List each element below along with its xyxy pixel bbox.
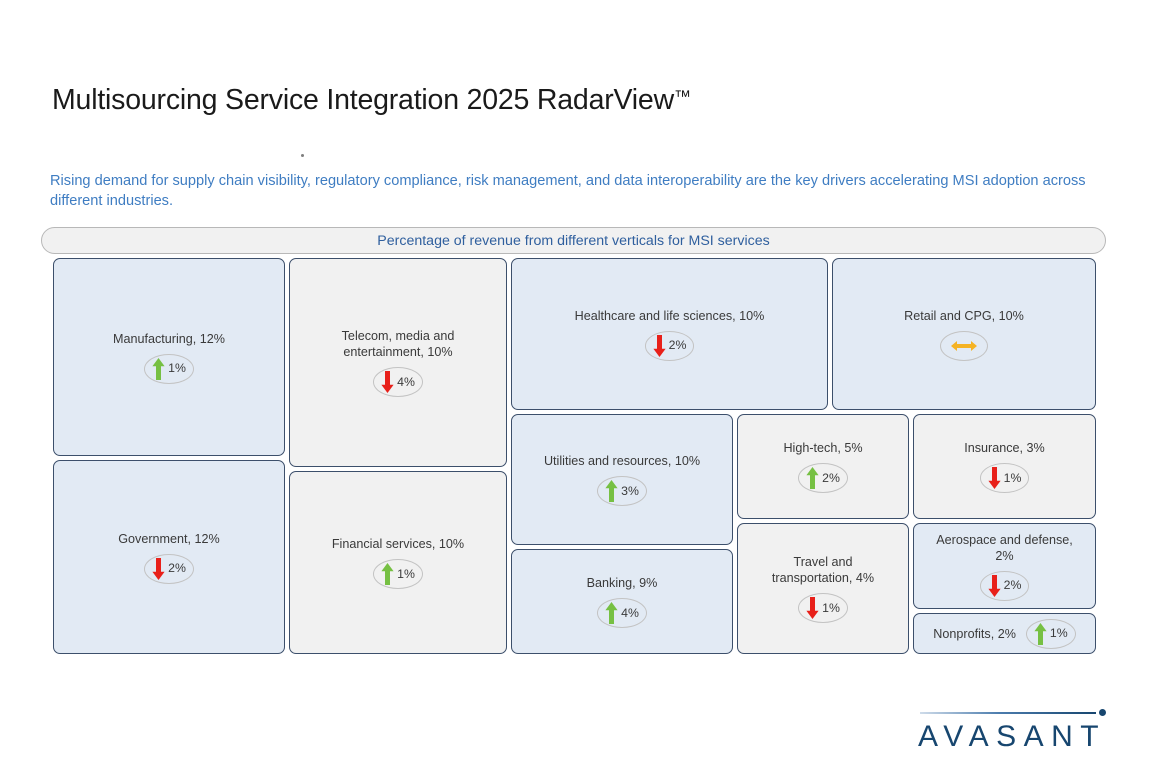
arrow-down-icon — [806, 597, 819, 619]
treemap-tile-label: Manufacturing, 12% — [113, 331, 225, 347]
arrow-down-icon — [988, 467, 1001, 489]
treemap-tile[interactable]: Banking, 9%4% — [511, 549, 733, 654]
delta-value: 2% — [1004, 579, 1022, 591]
delta-value: 1% — [168, 362, 186, 374]
treemap-tile-label: Banking, 9% — [587, 575, 658, 591]
delta-value: 1% — [397, 568, 415, 580]
logo-wordmark: AVASANT — [918, 720, 1106, 754]
delta-value: 1% — [822, 602, 840, 614]
arrow-up-icon — [152, 358, 165, 380]
subtitle: Rising demand for supply chain visibilit… — [50, 171, 1108, 211]
treemap-tile[interactable]: Telecom, media and entertainment, 10%4% — [289, 258, 507, 467]
delta-value: 1% — [1004, 472, 1022, 484]
arrow-up-icon — [605, 602, 618, 624]
arrow-down-icon — [152, 558, 165, 580]
treemap-tile[interactable]: High-tech, 5%2% — [737, 414, 909, 519]
page-title-text: Multisourcing Service Integration 2025 R… — [52, 84, 674, 116]
arrow-up-icon — [806, 467, 819, 489]
treemap-tile[interactable]: Utilities and resources, 10%3% — [511, 414, 733, 545]
delta-value: 1% — [1050, 627, 1068, 639]
arrow-up-icon — [605, 480, 618, 502]
treemap-tile-label: Telecom, media and entertainment, 10% — [342, 328, 455, 360]
page-title: Multisourcing Service Integration 2025 R… — [52, 84, 691, 117]
delta-value: 3% — [621, 485, 639, 497]
arrow-down-icon — [381, 371, 394, 393]
chart-header-label: Percentage of revenue from different ver… — [377, 233, 769, 249]
delta-badge: 2% — [798, 463, 848, 493]
arrow-up-icon — [381, 563, 394, 585]
arrow-up-icon — [1034, 623, 1047, 645]
delta-value: 2% — [822, 472, 840, 484]
delta-badge: 1% — [798, 593, 848, 623]
chart-header-bar: Percentage of revenue from different ver… — [41, 227, 1106, 254]
treemap-tile[interactable]: Healthcare and life sciences, 10%2% — [511, 258, 828, 410]
treemap-tile[interactable]: Aerospace and defense, 2%2% — [913, 523, 1096, 609]
treemap-tile[interactable]: Travel and transportation, 4%1% — [737, 523, 909, 654]
treemap-tile-label: Retail and CPG, 10% — [904, 308, 1024, 324]
delta-value: 2% — [669, 339, 687, 351]
avasant-logo: AVASANT — [918, 706, 1114, 758]
delta-badge — [940, 331, 988, 361]
delta-badge: 4% — [597, 598, 647, 628]
delta-badge: 1% — [144, 354, 194, 384]
delta-value: 2% — [168, 562, 186, 574]
stray-dot-artifact — [301, 154, 304, 157]
treemap-tile-label: Utilities and resources, 10% — [544, 453, 700, 469]
delta-value: 4% — [621, 607, 639, 619]
delta-badge: 3% — [597, 476, 647, 506]
delta-badge: 2% — [144, 554, 194, 584]
treemap-tile-label: High-tech, 5% — [783, 440, 862, 456]
arrow-down-icon — [988, 575, 1001, 597]
arrow-down-icon — [653, 335, 666, 357]
delta-badge: 4% — [373, 367, 423, 397]
delta-value: 4% — [397, 376, 415, 388]
treemap-chart: Manufacturing, 12%1%Government, 12%2%Tel… — [53, 258, 1096, 654]
delta-badge: 1% — [1026, 619, 1076, 649]
treemap-tile-label: Aerospace and defense, 2% — [936, 532, 1073, 564]
delta-badge: 2% — [645, 331, 695, 361]
treemap-tile[interactable]: Nonprofits, 2%1% — [913, 613, 1096, 654]
treemap-tile[interactable]: Government, 12%2% — [53, 460, 285, 654]
treemap-tile-label: Government, 12% — [118, 531, 220, 547]
logo-line — [920, 712, 1096, 714]
logo-dot — [1099, 709, 1106, 716]
delta-badge: 2% — [980, 571, 1030, 601]
trademark-symbol: ™ — [674, 87, 691, 106]
treemap-tile[interactable]: Financial services, 10%1% — [289, 471, 507, 654]
treemap-tile-label: Insurance, 3% — [964, 440, 1045, 456]
delta-badge: 1% — [373, 559, 423, 589]
treemap-tile[interactable]: Manufacturing, 12%1% — [53, 258, 285, 456]
delta-badge: 1% — [980, 463, 1030, 493]
treemap-tile-label: Nonprofits, 2% — [933, 626, 1016, 642]
treemap-tile-label: Healthcare and life sciences, 10% — [575, 308, 765, 324]
treemap-tile[interactable]: Insurance, 3%1% — [913, 414, 1096, 519]
treemap-tile-label: Travel and transportation, 4% — [772, 554, 874, 586]
arrow-flat-icon — [951, 340, 977, 352]
treemap-tile[interactable]: Retail and CPG, 10% — [832, 258, 1096, 410]
treemap-tile-label: Financial services, 10% — [332, 536, 464, 552]
